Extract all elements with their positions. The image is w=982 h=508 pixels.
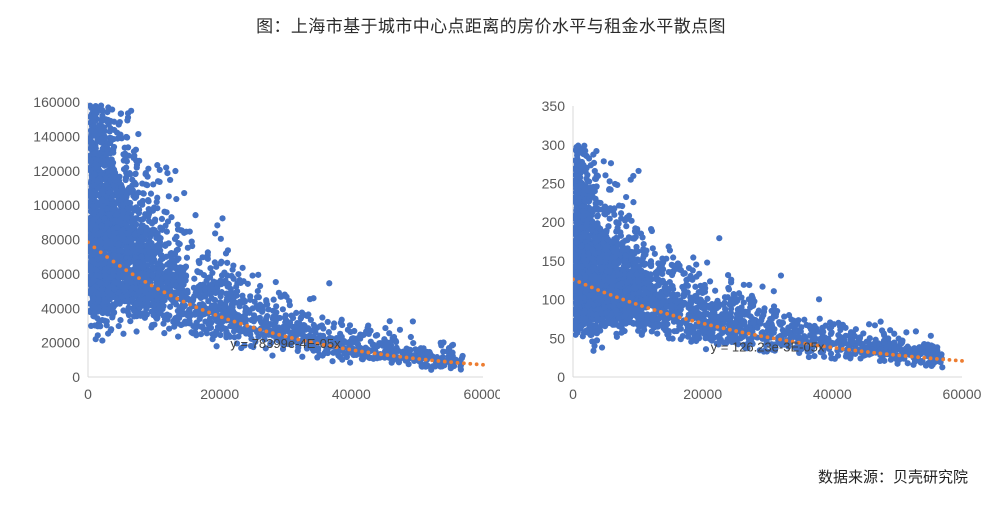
scatter-point <box>104 146 110 152</box>
scatter-point <box>157 167 163 173</box>
scatter-point <box>235 271 241 277</box>
scatter-point <box>102 298 108 304</box>
scatter-point <box>408 334 414 340</box>
scatter-point <box>867 335 873 341</box>
trendline-dot <box>105 255 109 259</box>
trendline-dot <box>341 346 345 350</box>
scatter-point <box>97 323 103 329</box>
scatter-point <box>218 278 224 284</box>
trendline-dot <box>112 260 116 264</box>
scatter-point <box>203 328 209 334</box>
scatter-point <box>623 194 629 200</box>
scatter-point <box>418 345 424 351</box>
scatter-point <box>98 208 104 214</box>
scatter-point <box>171 317 177 323</box>
scatter-point <box>159 216 165 222</box>
scatter-point <box>190 323 196 329</box>
scatter-point <box>212 230 218 236</box>
scatter-point <box>145 197 151 203</box>
scatter-point <box>649 228 655 234</box>
scatter-point <box>154 205 160 211</box>
scatter-point <box>228 286 234 292</box>
scatter-point <box>184 255 190 261</box>
scatter-point <box>263 317 269 323</box>
y-tick-label: 350 <box>542 98 566 114</box>
scatter-point <box>225 247 231 253</box>
scatter-point <box>270 316 276 322</box>
scatter-point <box>146 218 152 224</box>
x-tick-label: 20000 <box>683 386 722 402</box>
scatter-point <box>170 264 176 270</box>
scatter-point <box>872 322 878 328</box>
scatter-point <box>88 140 94 146</box>
scatter-point <box>607 178 613 184</box>
scatter-point <box>146 238 152 244</box>
scatter-point <box>201 272 207 278</box>
scatter-point <box>117 188 123 194</box>
scatter-point <box>329 358 335 364</box>
scatter-point <box>144 174 150 180</box>
scatter-point <box>182 318 188 324</box>
trendline-dot <box>468 362 472 366</box>
scatter-point <box>94 132 100 138</box>
scatter-point <box>172 252 178 258</box>
trendline-dot <box>252 326 256 330</box>
scatter-point <box>110 175 116 181</box>
scatter-point <box>112 279 118 285</box>
scatter-point <box>102 163 108 169</box>
scatter-point <box>319 314 325 320</box>
y-tick-label: 50 <box>549 330 565 346</box>
scatter-point <box>857 355 863 361</box>
scatter-point <box>259 307 265 313</box>
scatter-point <box>99 254 105 260</box>
scatter-point <box>448 363 454 369</box>
scatter-point <box>283 317 289 323</box>
scatter-point <box>89 175 95 181</box>
scatter-point <box>172 168 178 174</box>
scatter-point <box>150 252 156 258</box>
scatter-point <box>205 249 211 255</box>
x-tick-label: 20000 <box>200 386 239 402</box>
scatter-point <box>95 231 101 237</box>
x-tick-label: 0 <box>569 386 577 402</box>
scatter-point <box>146 211 152 217</box>
scatter-point <box>149 322 155 328</box>
scatter-point <box>196 260 202 266</box>
scatter-point <box>218 236 224 242</box>
scatter-point <box>90 296 96 302</box>
chart-panel-house-price: 0200004000060000800001000001200001400001… <box>0 92 500 412</box>
scatter-point <box>133 285 139 291</box>
scatter-point <box>299 310 305 316</box>
scatter-point <box>89 191 95 197</box>
scatter-point <box>108 137 114 143</box>
x-tick-labels: 0200004000060000 <box>569 386 982 402</box>
scatter-point <box>114 212 120 218</box>
scatter-point <box>913 328 919 334</box>
scatter-point <box>330 324 336 330</box>
scatter-point <box>99 203 105 209</box>
scatter-point <box>154 243 160 249</box>
scatter-point <box>160 255 166 261</box>
x-tick-label: 40000 <box>332 386 371 402</box>
scatter-point <box>103 182 109 188</box>
scatter-point <box>90 203 96 209</box>
scatter-point <box>725 285 731 291</box>
scatter-point <box>196 287 202 293</box>
trendline-dot <box>245 324 249 328</box>
trendline-dot <box>233 320 237 324</box>
x-tick-labels: 0200004000060000 <box>84 386 500 402</box>
trendline-dot <box>92 245 96 249</box>
scatter-point <box>133 328 139 334</box>
scatter-point <box>351 336 357 342</box>
scatter-point <box>136 158 142 164</box>
scatter-point <box>122 145 128 151</box>
scatter-point <box>326 329 332 335</box>
scatter-point <box>205 321 211 327</box>
scatter-point <box>339 357 345 363</box>
trendline-dot <box>118 264 122 268</box>
trendline-dot <box>182 300 186 304</box>
scatter-point <box>201 292 207 298</box>
scatter-point <box>290 324 296 330</box>
scatter-point <box>280 306 286 312</box>
scatter-point <box>116 323 122 329</box>
scatter-point <box>89 221 95 227</box>
scatter-point <box>255 272 261 278</box>
scatter-point <box>204 277 210 283</box>
scatter-point <box>98 118 104 124</box>
trendline-dot <box>201 308 205 312</box>
scatter-point <box>601 158 607 164</box>
y-tick-label: 120000 <box>33 163 80 179</box>
scatter-point <box>230 267 236 273</box>
scatter-point <box>678 267 684 273</box>
scatter-point <box>211 303 217 309</box>
scatter-point <box>389 360 395 366</box>
y-tick-label: 250 <box>542 175 566 191</box>
scatter-point <box>161 303 167 309</box>
scatter-point <box>227 291 233 297</box>
scatter-point <box>887 327 893 333</box>
scatter-point <box>133 301 139 307</box>
y-tick-label: 60000 <box>41 266 80 282</box>
trendline-dot <box>86 240 90 244</box>
scatter-point <box>214 343 220 349</box>
scatter-point <box>877 358 883 364</box>
scatter-point <box>778 272 784 278</box>
scatter-point <box>133 194 139 200</box>
y-tick-labels: 0200004000060000800001000001200001400001… <box>33 94 80 385</box>
scatter-point <box>310 295 316 301</box>
scatter-point <box>149 272 155 278</box>
scatter-point <box>162 223 168 229</box>
trendline-dot <box>354 349 358 353</box>
trendline-dot <box>194 305 198 309</box>
scatter-point <box>150 264 156 270</box>
scatter-chart-rent: 0501001502002503003500200004000060000y =… <box>500 92 982 412</box>
scatter-points <box>87 102 466 372</box>
scatter-point <box>118 294 124 300</box>
scatter-point <box>410 318 416 324</box>
scatter-point <box>97 280 103 286</box>
scatter-point <box>652 251 658 257</box>
scatter-point <box>207 285 213 291</box>
scatter-point <box>257 283 263 289</box>
scatter-point <box>126 260 132 266</box>
scatter-point <box>438 342 444 348</box>
x-tick-label: 60000 <box>464 386 500 402</box>
trendline-dot <box>398 355 402 359</box>
trendline-dot <box>163 290 167 294</box>
scatter-point <box>299 354 305 360</box>
scatter-point <box>156 269 162 275</box>
trendline-dot <box>443 360 447 364</box>
scatter-point <box>368 339 374 345</box>
scatter-point <box>176 310 182 316</box>
scatter-point <box>107 128 113 134</box>
scatter-point <box>92 150 98 156</box>
scatter-point <box>397 327 403 333</box>
scatter-point <box>118 111 124 117</box>
scatter-point <box>163 209 169 215</box>
trendline-dot <box>169 294 173 298</box>
scatter-point <box>114 224 120 230</box>
scatter-point <box>108 327 114 333</box>
trendline-dot <box>188 303 192 307</box>
scatter-point <box>366 331 372 337</box>
scatter-point <box>320 325 326 331</box>
scatter-point <box>140 310 146 316</box>
trendline-dot <box>411 356 415 360</box>
scatter-point <box>105 220 111 226</box>
trendline-dot <box>137 276 141 280</box>
y-tick-label: 100 <box>542 292 566 308</box>
scatter-point <box>277 315 283 321</box>
scatter-point <box>314 354 320 360</box>
scatter-point <box>212 259 218 265</box>
scatter-point <box>602 172 608 178</box>
trendline-dot <box>379 352 383 356</box>
y-tick-label: 20000 <box>41 335 80 351</box>
trendline-dot <box>131 272 135 276</box>
scatter-point <box>256 294 262 300</box>
scatter-point <box>90 211 96 217</box>
scatter-point <box>440 348 446 354</box>
scatter-point <box>650 245 656 251</box>
scatter-point <box>143 232 149 238</box>
scatter-point <box>696 271 702 277</box>
scatter-point <box>167 177 173 183</box>
scatter-point <box>141 191 147 197</box>
scatter-point <box>301 322 307 328</box>
scatter-point <box>183 264 189 270</box>
scatter-point <box>123 199 129 205</box>
scatter-point <box>150 181 156 187</box>
scatter-point <box>119 233 125 239</box>
scatter-point <box>98 223 104 229</box>
scatter-point <box>283 294 289 300</box>
scatter-point <box>115 274 121 280</box>
scatter-point <box>716 235 722 241</box>
scatter-point <box>124 117 130 123</box>
scatter-point <box>135 131 141 137</box>
scatter-point <box>131 155 137 161</box>
scatter-point <box>612 181 618 187</box>
scatter-point <box>224 260 230 266</box>
trendline-dot <box>475 362 479 366</box>
scatter-point <box>184 290 190 296</box>
x-tick-label: 0 <box>84 386 92 402</box>
scatter-point <box>88 265 94 271</box>
trendline-dot <box>424 358 428 362</box>
scatter-point <box>155 295 161 301</box>
scatter-point <box>390 347 396 353</box>
scatter-point <box>406 361 412 367</box>
scatter-point <box>164 170 170 176</box>
scatter-point <box>458 366 464 372</box>
scatter-point <box>150 312 156 318</box>
trendline-dot <box>156 287 160 291</box>
scatter-point <box>194 268 200 274</box>
scatter-point <box>89 238 95 244</box>
scatter-point <box>618 210 624 216</box>
scatter-point <box>111 230 117 236</box>
scatter-point <box>325 319 331 325</box>
scatter-point <box>88 158 94 164</box>
scatter-point <box>134 260 140 266</box>
scatter-point <box>129 296 135 302</box>
scatter-point <box>129 225 135 231</box>
scatter-point <box>163 274 169 280</box>
trendline-dot <box>99 250 103 254</box>
trendline-dot <box>226 318 230 322</box>
scatter-point <box>160 312 166 318</box>
page-title: 图：上海市基于城市中心点距离的房价水平与租金水平散点图 <box>0 12 982 37</box>
trendline-dot <box>430 358 434 362</box>
scatter-point <box>311 326 317 332</box>
scatter-point <box>190 297 196 303</box>
trendline-dot <box>373 351 377 355</box>
scatter-point <box>176 304 182 310</box>
scatter-point <box>98 137 104 143</box>
scatter-point <box>157 179 163 185</box>
scatter-point <box>90 108 96 114</box>
scatter-point <box>163 164 169 170</box>
scatter-point <box>273 279 279 285</box>
trendline-dot <box>220 315 224 319</box>
scatter-point <box>152 216 158 222</box>
scatter-point <box>240 265 246 271</box>
scatter-point <box>110 247 116 253</box>
scatter-point <box>198 324 204 330</box>
scatter-point <box>125 231 131 237</box>
scatter-point <box>99 337 105 343</box>
scatter-point <box>179 272 185 278</box>
scatter-point <box>116 121 122 127</box>
scatter-point <box>707 278 713 284</box>
scatter-point <box>278 294 284 300</box>
scatter-point <box>181 230 187 236</box>
scatter-point <box>177 285 183 291</box>
scatter-point <box>142 289 148 295</box>
scatter-point <box>128 205 134 211</box>
scatter-points <box>572 143 946 371</box>
scatter-point <box>209 295 215 301</box>
scatter-point <box>635 168 641 174</box>
scatter-point <box>228 273 234 279</box>
scatter-point <box>288 312 294 318</box>
scatter-point <box>110 150 116 156</box>
scatter-point <box>168 214 174 220</box>
scatter-point <box>756 308 762 314</box>
scatter-point <box>98 102 104 108</box>
scatter-point <box>116 248 122 254</box>
scatter-point <box>139 180 145 186</box>
scatter-point <box>132 171 138 177</box>
y-tick-label: 200 <box>542 214 566 230</box>
scatter-point <box>326 280 332 286</box>
scatter-point <box>148 191 154 197</box>
scatter-point <box>460 353 466 359</box>
scatter-point <box>132 231 138 237</box>
scatter-point <box>223 329 229 335</box>
y-tick-label: 0 <box>72 369 80 385</box>
scatter-point <box>95 291 101 297</box>
trendline-dot <box>214 313 218 317</box>
scatter-point <box>179 292 185 298</box>
scatter-point <box>108 160 114 166</box>
scatter-point <box>248 317 254 323</box>
scatter-point <box>130 245 136 251</box>
scatter-point <box>103 241 109 247</box>
y-tick-label: 160000 <box>33 94 80 110</box>
trendline-dot <box>143 280 147 284</box>
scatter-point <box>666 244 672 250</box>
scatter-point <box>374 332 380 338</box>
scatter-point <box>109 194 115 200</box>
y-tick-label: 150 <box>542 253 566 269</box>
scatter-point <box>249 272 255 278</box>
scatter-point <box>94 272 100 278</box>
scatter-point <box>741 282 747 288</box>
y-tick-label: 300 <box>542 137 566 153</box>
scatter-point <box>866 321 872 327</box>
scatter-point <box>816 296 822 302</box>
scatter-point <box>123 278 129 284</box>
scatter-point <box>432 363 438 369</box>
scatter-point <box>124 214 130 220</box>
trendline-dot <box>456 361 460 365</box>
trendline-dot <box>271 331 275 335</box>
scatter-point <box>173 196 179 202</box>
scatter-point <box>128 108 134 114</box>
scatter-point <box>192 212 198 218</box>
scatter-point <box>347 329 353 335</box>
trendline-dot <box>481 363 485 367</box>
trendline-dot <box>405 356 409 360</box>
scatter-point <box>425 363 431 369</box>
y-tick-label: 0 <box>557 369 565 385</box>
scatter-point <box>138 247 144 253</box>
scatter-point <box>97 126 103 132</box>
scatter-point <box>89 258 95 264</box>
scatter-point <box>167 304 173 310</box>
scatter-point <box>111 202 117 208</box>
scatter-point <box>139 202 145 208</box>
